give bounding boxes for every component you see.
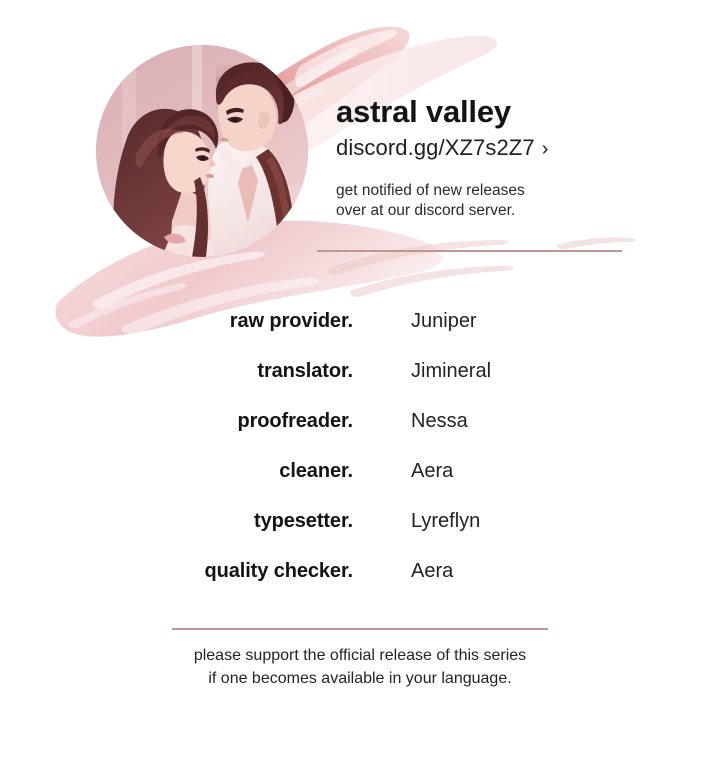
hero-tagline-line-2: over at our discord server.: [336, 201, 636, 222]
credit-role-label: translator.: [0, 360, 353, 383]
credit-person-name: Jimineral: [411, 360, 491, 383]
hero-text-block: astral valley discord.gg/XZ7s2Z7 › get n…: [336, 96, 676, 222]
discord-link-text: discord.gg/XZ7s2Z7: [336, 135, 535, 161]
support-notice-line-2: if one becomes available in your languag…: [0, 667, 720, 690]
credit-row: cleaner. Aera: [0, 446, 720, 496]
credit-row: quality checker. Aera: [0, 546, 720, 596]
divider-bottom: [172, 628, 548, 630]
credit-role-label: quality checker.: [0, 560, 353, 583]
credits-page: astral valley discord.gg/XZ7s2Z7 › get n…: [0, 0, 720, 760]
chevron-right-icon: ›: [542, 139, 549, 159]
hero-tagline: get notified of new releases over at our…: [336, 181, 636, 222]
credit-person-name: Aera: [411, 460, 453, 483]
credit-row: proofreader. Nessa: [0, 396, 720, 446]
credit-row: raw provider. Juniper: [0, 296, 720, 346]
credit-person-name: Nessa: [411, 410, 468, 433]
credit-row: translator. Jimineral: [0, 346, 720, 396]
support-notice: please support the official release of t…: [0, 644, 720, 690]
hero-section: astral valley discord.gg/XZ7s2Z7 › get n…: [0, 0, 720, 290]
discord-link[interactable]: discord.gg/XZ7s2Z7 ›: [336, 135, 676, 161]
credit-role-label: cleaner.: [0, 460, 353, 483]
support-notice-line-1: please support the official release of t…: [0, 644, 720, 667]
hero-tagline-line-1: get notified of new releases: [336, 181, 636, 202]
credit-role-label: proofreader.: [0, 410, 353, 433]
credit-person-name: Juniper: [411, 310, 477, 333]
credit-row: typesetter. Lyreflyn: [0, 496, 720, 546]
avatar: [96, 45, 308, 257]
avatar-illustration: [96, 45, 308, 257]
credit-role-label: typesetter.: [0, 510, 353, 533]
credits-list: raw provider. Juniper translator. Jimine…: [0, 296, 720, 596]
credit-role-label: raw provider.: [0, 310, 353, 333]
page-title: astral valley: [336, 96, 676, 129]
credit-person-name: Aera: [411, 560, 453, 583]
credit-person-name: Lyreflyn: [411, 510, 480, 533]
divider-top: [317, 250, 622, 252]
